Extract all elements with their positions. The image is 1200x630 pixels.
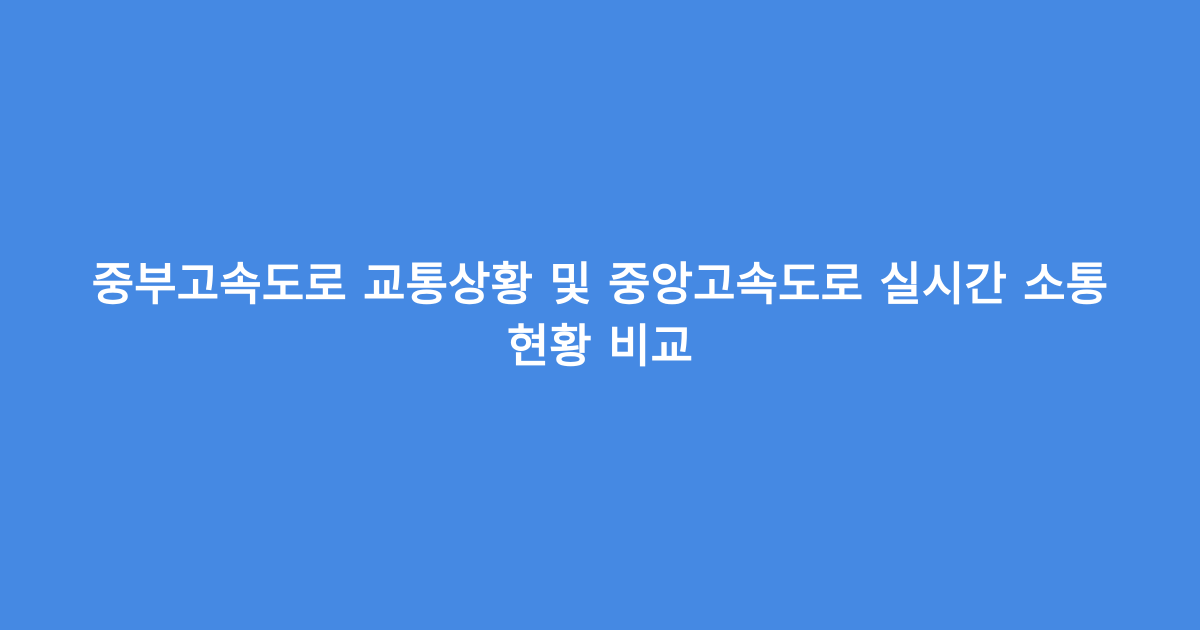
page-title: 중부고속도로 교통상황 및 중앙고속도로 실시간 소통 현황 비교 [78,253,1122,377]
og-banner-card: 중부고속도로 교통상황 및 중앙고속도로 실시간 소통 현황 비교 [0,0,1200,630]
headline-block: 중부고속도로 교통상황 및 중앙고속도로 실시간 소통 현황 비교 [0,253,1200,377]
